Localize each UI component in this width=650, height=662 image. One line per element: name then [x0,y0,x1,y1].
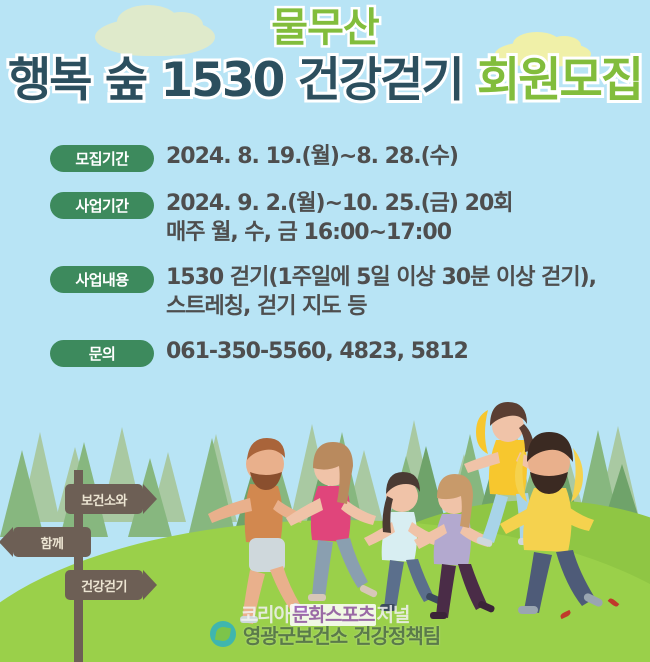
info-label-contact: 문의 [50,340,154,367]
info-label-program-period: 사업기간 [50,192,154,219]
title-main-green: 회원모집 [477,53,642,108]
info-row-program-period: 사업기간 2024. 9. 2.(월)~10. 25.(금) 20회 매주 월,… [50,189,610,247]
page-title: 행복 숲 1530 건강걷기 회원모집 [0,56,650,105]
yeonggwang-emblem-icon [210,621,236,647]
footer: 영광군보건소 건강정책팀 코리아문화스포츠저널 [0,616,650,652]
info-value-program-period: 2024. 9. 2.(월)~10. 25.(금) 20회 매주 월, 수, 금… [166,189,513,247]
info-value-contact[interactable]: 061-350-5560, 4823, 5812 [166,337,468,366]
walker-2 [286,442,378,601]
signpost-sign-health-center: 보건소와 [65,484,143,514]
signpost: 보건소와 함께 건강걷기 [12,470,172,615]
poster-root: 물무산 행복 숲 1530 건강걷기 회원모집 모집기간 2024. 8. 19… [0,0,650,662]
info-row-contact: 문의 061-350-5560, 4823, 5812 [50,337,610,367]
info-value-recruit-period: 2024. 8. 19.(월)~8. 28.(수) [166,142,458,171]
info-row-recruit-period: 모집기간 2024. 8. 19.(월)~8. 28.(수) [50,142,610,172]
signpost-sign-together: 함께 [13,527,91,557]
title-main-dark: 행복 숲 1530 건강걷기 [8,53,463,108]
info-list: 모집기간 2024. 8. 19.(월)~8. 28.(수) 사업기간 2024… [50,142,610,381]
info-row-program-content: 사업내용 1530 걷기(1주일에 5일 이상 30분 이상 걷기), 스트레칭… [50,263,610,321]
info-label-recruit-period: 모집기간 [50,145,154,172]
info-value-program-content: 1530 걷기(1주일에 5일 이상 30분 이상 걷기), 스트레칭, 걷기 … [166,263,596,321]
signpost-sign-healthy-walking: 건강걷기 [65,570,143,600]
info-label-program-content: 사업내용 [50,266,154,293]
footer-organization: 영광군보건소 건강정책팀 [243,620,440,649]
title-mountain-name: 물무산 [271,8,378,48]
poster-headline: 물무산 행복 숲 1530 건강걷기 회원모집 [0,8,650,105]
walker-1 [208,438,310,624]
